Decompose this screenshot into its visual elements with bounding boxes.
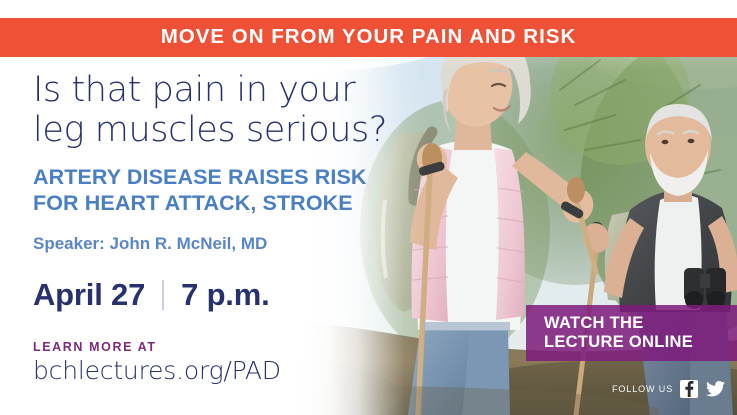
lecture-promo-ad: MOVE ON FROM YOUR PAIN AND RISK Is that … — [0, 0, 737, 415]
learn-more-block: LEARN MORE AT bchlectures.org/PAD — [33, 340, 433, 386]
event-datetime: April 27 7 p.m. — [33, 278, 433, 312]
follow-us-group: FOLLOW US — [612, 380, 725, 398]
twitter-icon[interactable] — [705, 380, 725, 398]
cta-line-1: WATCH THE — [544, 314, 737, 333]
cta-line-2: LECTURE ONLINE — [544, 333, 737, 352]
follow-us-label: FOLLOW US — [612, 384, 673, 395]
promo-banner-text: MOVE ON FROM YOUR PAIN AND RISK — [161, 27, 577, 48]
event-time: 7 p.m. — [181, 278, 269, 312]
subheadline-line-1: ARTERY DISEASE RAISES RISK — [33, 165, 367, 189]
headline: Is that pain in your leg muscles serious… — [33, 70, 433, 150]
subheadline: ARTERY DISEASE RAISES RISK FOR HEART ATT… — [33, 164, 433, 216]
datetime-divider — [162, 280, 164, 310]
headline-line-1: Is that pain in your — [33, 70, 355, 110]
speaker-name: Speaker: John R. McNeil, MD — [33, 234, 433, 254]
learn-more-label: LEARN MORE AT — [33, 340, 433, 354]
event-date: April 27 — [33, 278, 145, 312]
headline-line-2: leg muscles serious? — [33, 110, 387, 150]
subheadline-line-2: FOR HEART ATTACK, STROKE — [33, 191, 353, 215]
promo-banner: MOVE ON FROM YOUR PAIN AND RISK — [0, 18, 737, 57]
learn-more-url[interactable]: bchlectures.org/PAD — [33, 356, 433, 386]
content-column: Is that pain in your leg muscles serious… — [33, 70, 433, 386]
watch-lecture-online-button[interactable]: WATCH THE LECTURE ONLINE — [526, 305, 737, 361]
facebook-icon[interactable] — [680, 380, 698, 398]
top-white-strip — [0, 0, 737, 18]
